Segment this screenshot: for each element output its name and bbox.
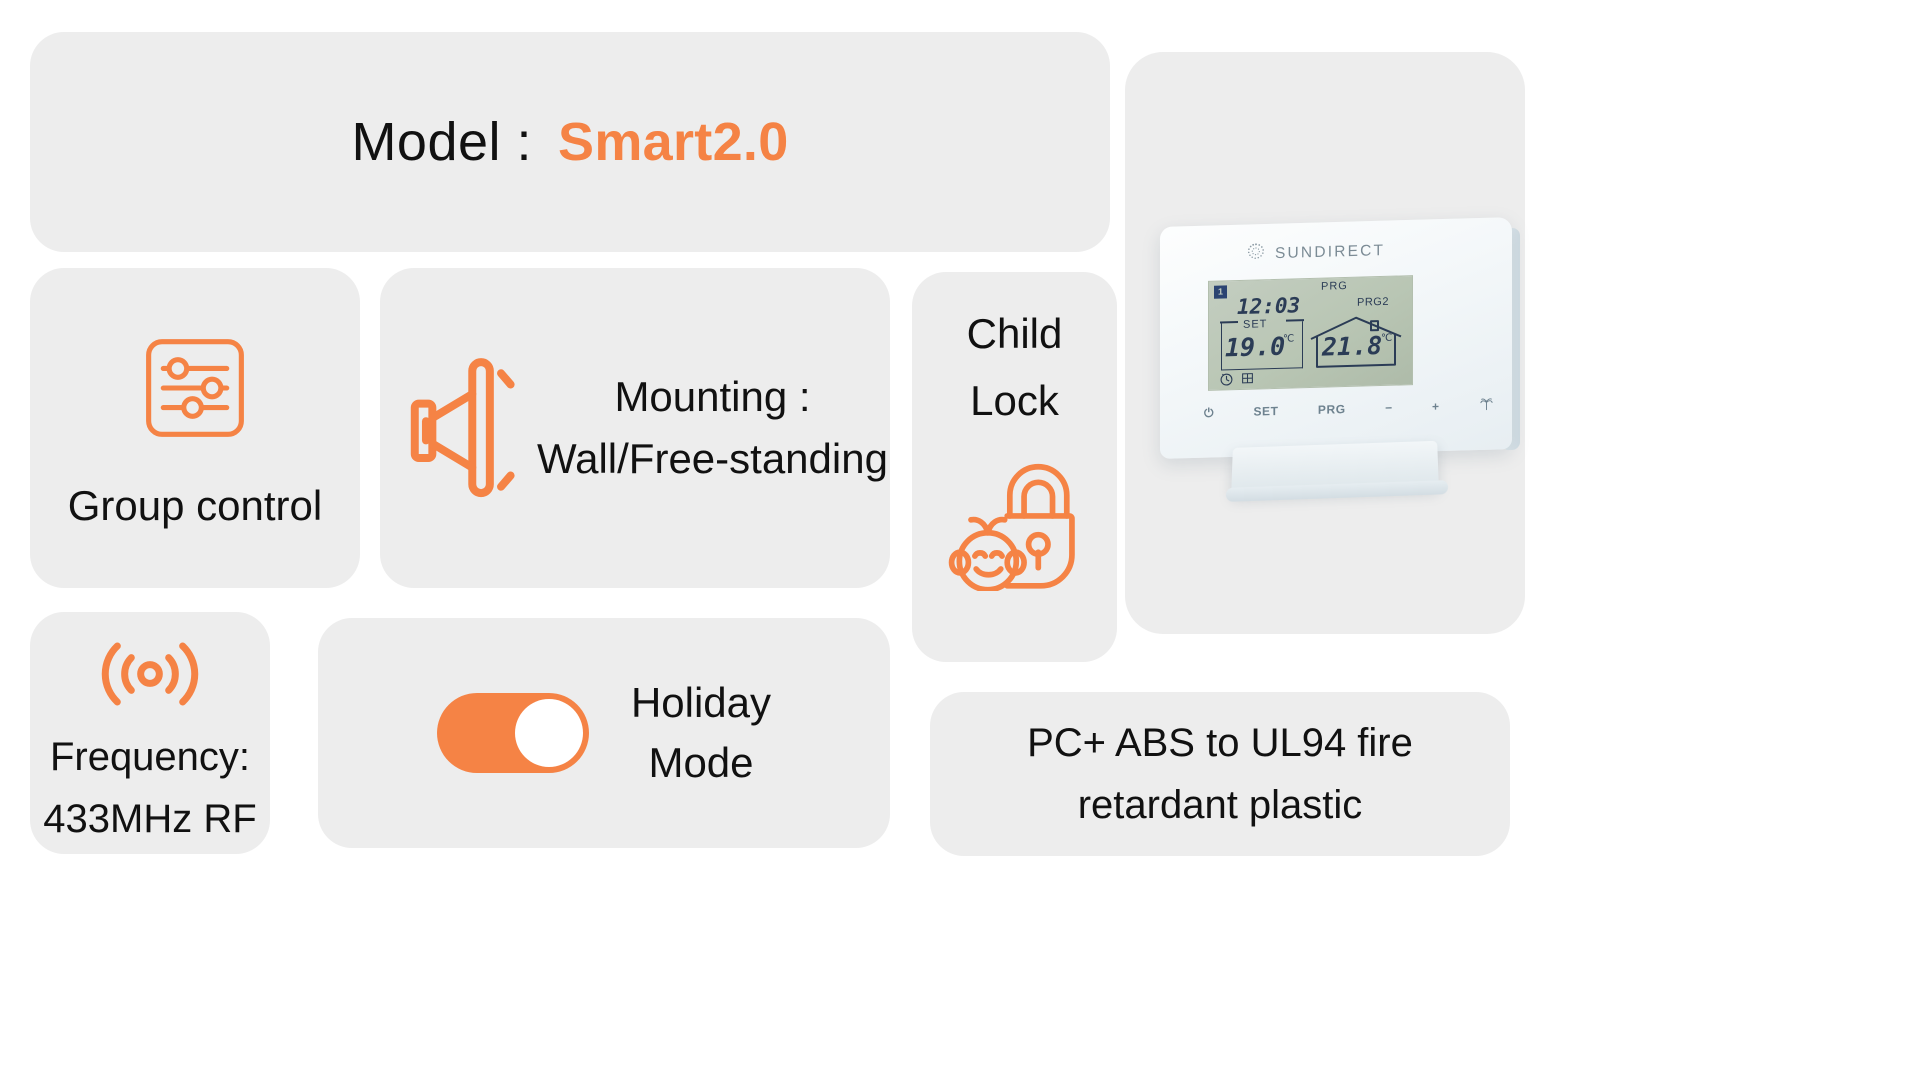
holiday-mode-line1: Holiday [631, 677, 771, 730]
lcd-current-temperature: 21.8 [1322, 331, 1382, 362]
material-card: PC+ ABS to UL94 fire retardant plastic [930, 692, 1510, 856]
model-line: Model : Smart2.0 [351, 111, 788, 173]
plus-button[interactable]: + [1432, 399, 1440, 413]
frequency-line2: 433MHz RF [43, 793, 256, 845]
lcd-status-icons [1219, 371, 1255, 391]
window-open-icon [1240, 371, 1255, 390]
model-label: Model : [351, 111, 532, 173]
lcd-channel-indicator: 1 [1214, 285, 1227, 298]
frequency-card: Frequency: 433MHz RF [30, 612, 270, 854]
rf-signal-icon [91, 632, 209, 721]
feature-sheet-page: Model : Smart2.0 Group control [0, 0, 1920, 1080]
child-lock-card: Child Lock [912, 272, 1117, 662]
prg-button[interactable]: PRG [1318, 402, 1346, 417]
mounting-card: Mounting : Wall/Free-standing [380, 268, 890, 588]
holiday-mode-toggle[interactable] [437, 693, 589, 773]
frequency-line1: Frequency: [50, 731, 250, 783]
thermostat-device: SUNDIRECT 1 PRG 12:03 PRG2 SET 19.0 ℃ 21… [1160, 222, 1540, 522]
model-value: Smart2.0 [558, 111, 789, 173]
sliders-icon [134, 327, 256, 454]
minus-button[interactable]: − [1385, 401, 1393, 415]
holiday-mode-text: Holiday Mode [631, 677, 771, 790]
toggle-knob [515, 699, 583, 767]
lcd-set-label: SET [1243, 318, 1267, 331]
timer-icon [1219, 371, 1234, 390]
lcd-prg2-label: PRG2 [1357, 296, 1389, 309]
child-lock-line1: Child [967, 308, 1063, 361]
mounting-line2: Wall/Free-standing [537, 435, 888, 483]
device-lcd-screen: 1 PRG 12:03 PRG2 SET 19.0 ℃ 21.8 ℃ [1208, 275, 1413, 391]
sun-burst-icon [1246, 241, 1266, 267]
material-line1: PC+ ABS to UL94 fire [1027, 717, 1413, 769]
child-lock-line2: Lock [970, 375, 1059, 428]
power-button[interactable]: ⏻ [1204, 405, 1214, 420]
holiday-palm-button[interactable] [1479, 396, 1494, 414]
set-button[interactable]: SET [1253, 404, 1278, 419]
model-banner-card: Model : Smart2.0 [30, 32, 1110, 252]
child-lock-padlock-icon [945, 459, 1085, 596]
lcd-set-unit: ℃ [1283, 333, 1294, 344]
holiday-mode-card: Holiday Mode [318, 618, 890, 848]
device-brand: SUNDIRECT [1246, 238, 1385, 267]
mounting-text: Mounting : Wall/Free-standing [535, 373, 890, 483]
group-control-card: Group control [30, 268, 360, 588]
lcd-clock: 12:03 [1237, 293, 1300, 319]
material-line2: retardant plastic [1078, 779, 1363, 831]
lcd-prg-label: PRG [1321, 280, 1348, 293]
device-brand-name: SUNDIRECT [1275, 242, 1385, 263]
lcd-current-unit: ℃ [1381, 333, 1392, 344]
mounting-line1: Mounting : [614, 373, 810, 421]
holiday-mode-line2: Mode [648, 737, 753, 790]
group-control-label: Group control [68, 482, 322, 530]
lcd-set-temperature: 19.0 [1225, 332, 1285, 363]
wall-mount-bracket-icon [402, 346, 517, 511]
